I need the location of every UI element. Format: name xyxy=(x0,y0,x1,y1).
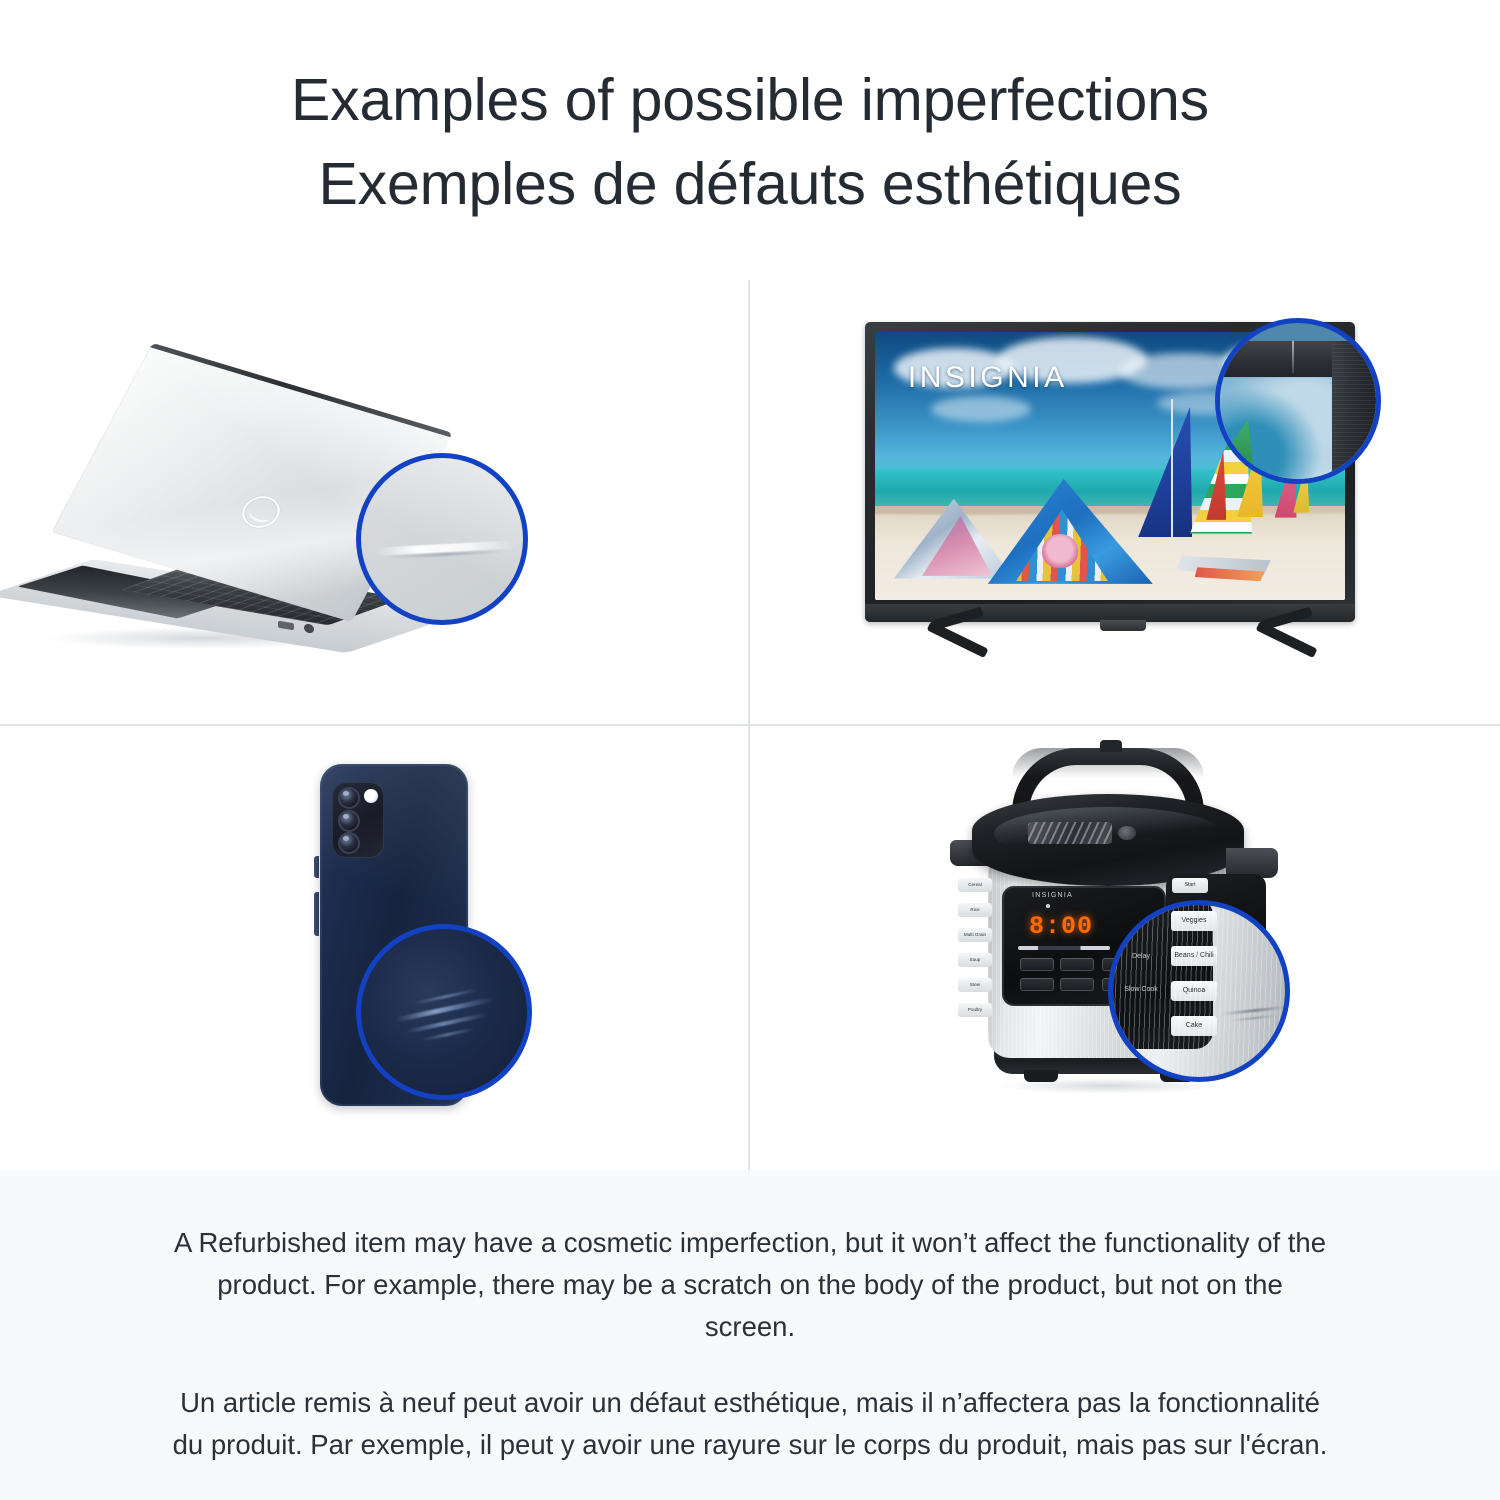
cooker-steam-vent xyxy=(1028,822,1112,844)
magnified-program-column: Veggies Beans / Chili Quinoa Cake xyxy=(1171,911,1217,1036)
disclaimer-paragraph-fr: Un article remis à neuf peut avoir un dé… xyxy=(170,1382,1330,1466)
magnifier-circle-cooker: Delay Slow Cook Veggies Beans / Chili Qu… xyxy=(1108,900,1290,1082)
cooker-program-button[interactable]: Stew xyxy=(958,978,992,992)
magnifier-circle-laptop xyxy=(356,453,528,625)
disclaimer-paragraph-en: A Refurbished item may have a cosmetic i… xyxy=(170,1222,1330,1348)
cooker-indicator-dot xyxy=(1046,904,1050,908)
cooker-button-keep-warm[interactable] xyxy=(1060,958,1094,971)
page-title-en: Examples of possible imperfections xyxy=(0,58,1500,142)
example-cell-phone xyxy=(0,726,748,1170)
examples-grid: INSIGNIA xyxy=(0,280,1500,1170)
page-title: Examples of possible imperfections Exemp… xyxy=(0,58,1500,226)
magnified-program-button[interactable]: Quinoa xyxy=(1171,981,1217,1001)
camera-lens-icon xyxy=(338,787,360,809)
phone-volume-button xyxy=(314,856,319,878)
magnified-button-label: Delay xyxy=(1119,953,1163,960)
cooker-pressure-scale xyxy=(1018,946,1110,950)
magnifier-sheen xyxy=(361,458,523,620)
cloud-shape xyxy=(931,396,1031,422)
cooker-button-saute[interactable] xyxy=(1020,978,1054,991)
defect-bezel-scuff xyxy=(1292,341,1294,373)
magnified-panel-dark xyxy=(1108,900,1213,1049)
cooker-handle-knob xyxy=(1100,740,1122,752)
cooker-program-button[interactable]: Rice xyxy=(958,903,992,917)
cooker-pressure-valve xyxy=(1118,826,1136,840)
example-cell-tv: INSIGNIA xyxy=(750,280,1500,724)
defect-scratch xyxy=(396,997,495,1023)
cooker-program-button[interactable]: Cereal xyxy=(958,878,992,892)
magnified-program-button[interactable]: Veggies xyxy=(1171,911,1217,931)
pressure-cooker-illustration: INSIGNIA 8:00 Cereal Rice Multi Grain So… xyxy=(950,748,1280,1108)
defect-scratch xyxy=(421,1027,474,1041)
cooker-button-slow-cook[interactable] xyxy=(1060,978,1094,991)
phone-illustration xyxy=(282,764,502,1124)
phone-power-button xyxy=(314,892,319,936)
cooker-program-button[interactable]: Soup xyxy=(958,953,992,967)
example-cell-laptop xyxy=(0,280,748,724)
magnified-program-button[interactable]: Beans / Chili xyxy=(1171,946,1217,966)
example-cell-pressure-cooker: INSIGNIA 8:00 Cereal Rice Multi Grain So… xyxy=(750,726,1500,1170)
magnified-dark-labels: Delay Slow Cook xyxy=(1119,953,1163,993)
phone-camera-module xyxy=(332,782,384,858)
tv-illustration: INSIGNIA xyxy=(865,322,1365,692)
cooker-button-manual[interactable] xyxy=(1020,958,1054,971)
magnifier-circle-tv xyxy=(1215,318,1381,484)
magnified-bezel-right xyxy=(1332,341,1378,484)
cooker-brand-logo: INSIGNIA xyxy=(1032,892,1073,899)
cooker-foot-left xyxy=(1024,1070,1058,1082)
magnified-button-label: Slow Cook xyxy=(1119,986,1163,993)
cooker-program-button[interactable]: Poultry xyxy=(958,1003,992,1017)
footer-disclaimer: A Refurbished item may have a cosmetic i… xyxy=(0,1170,1500,1500)
infographic-page: Examples of possible imperfections Exemp… xyxy=(0,0,1500,1500)
cooker-program-column-left: Cereal Rice Multi Grain Soup Stew Poultr… xyxy=(958,878,992,1017)
cooker-led-display: 8:00 xyxy=(1022,912,1100,940)
tv-badge xyxy=(1100,620,1146,631)
camera-flash-icon xyxy=(364,789,378,803)
camera-lens-icon xyxy=(338,810,360,832)
laptop-illustration xyxy=(40,375,460,675)
sailboat-mast xyxy=(1171,399,1173,539)
page-title-fr: Exemples de défauts esthétiques xyxy=(0,142,1500,226)
defect-scratch xyxy=(1231,1014,1279,1021)
magnified-program-button[interactable]: Cake xyxy=(1171,1016,1217,1036)
cooker-program-button[interactable]: Multi Grain xyxy=(958,928,992,942)
tv-screen-brand-logo: INSIGNIA xyxy=(908,361,1068,395)
camera-lens-icon xyxy=(338,832,360,854)
cooker-program-button[interactable]: Start xyxy=(1172,878,1208,893)
foreground-sail-pink xyxy=(1042,534,1078,568)
magnifier-circle-phone xyxy=(356,924,532,1100)
